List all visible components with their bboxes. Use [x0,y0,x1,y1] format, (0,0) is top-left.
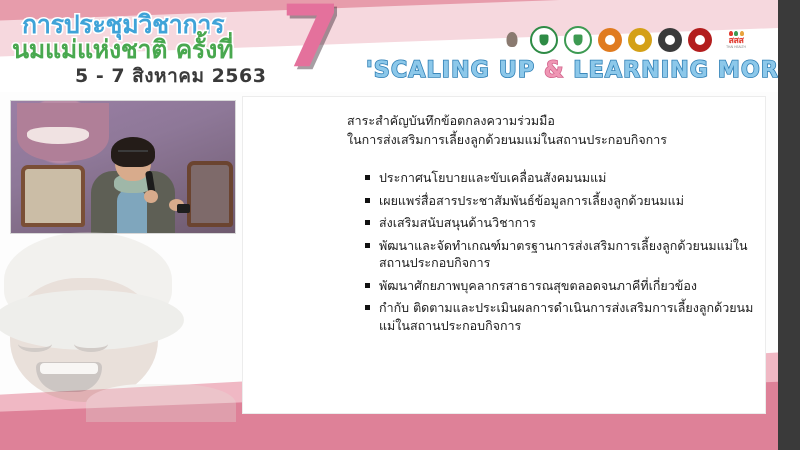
royal-emblem-logo [500,28,524,52]
speaker-figure [87,125,179,233]
slogan-part1: 'SCALING UP [366,58,544,83]
thai-breastfeeding-foundation-logo [598,28,622,52]
chair-left [21,165,85,227]
glasses-icon [118,150,148,159]
mou-bullet-list: ประกาศนโยบายและขับเคลื่อนสังคมนมแม่ เผยแ… [365,169,760,339]
slogan-part2: LEARNING MORE' [565,58,778,83]
chair-right [187,161,233,227]
slide-content-card: สาระสำคัญบันทึกข้อตกลงความร่วมมือ ในการส… [242,96,766,414]
ministry-public-health-logo [530,26,558,54]
speaker-hand-left [144,190,158,203]
content-heading-line1: สาระสำคัญบันทึกข้อตกลงความร่วมมือ [347,111,747,130]
child-eye-left [18,336,52,352]
edition-number: 7 [281,0,341,80]
medical-council-logo [658,28,682,52]
child-teeth [40,363,98,374]
content-heading: สาระสำคัญบันทึกข้อตกลงความร่วมมือ ในการส… [347,111,747,149]
list-item: พัฒนาและจัดทำเกณฑ์มาตรฐานการส่งเสริมการเ… [365,237,760,272]
pediatric-society-logo [688,28,712,52]
list-item: กำกับ ติดตามและประเมินผลการดำเนินการส่งเ… [365,299,760,334]
speaker-shirt [117,189,147,233]
child-eye-right [74,336,108,352]
speaker-video-thumbnail[interactable] [10,100,236,234]
page-right-edge [778,0,800,450]
health-department-logo [564,26,592,54]
content-heading-line2: ในการส่งเสริมการเลี้ยงลูกด้วยนมแม่ในสถาน… [347,130,747,149]
slogan-ampersand: & [544,58,564,83]
royal-crest-logo [628,28,652,52]
smiling-child-watermark [0,232,250,422]
header-banner: การประชุมวิชาการ นมแม่แห่งชาติ ครั้งที่ … [0,0,778,92]
list-item: ส่งเสริมสนับสนุนด้านวิชาการ [365,214,760,232]
thaihealth-subtext: THAI HEALTH [726,46,746,49]
sponsor-logo-row: สสส THAI HEALTH [500,26,754,54]
presenter-remote [177,204,190,213]
list-item: พัฒนาศักยภาพบุคลากรสาธารณสุขตลอดจนภาคีที… [365,277,760,295]
child-shoulder [86,384,236,422]
conference-date: 5 - 7 สิงหาคม 2563 [75,61,266,91]
thaihealth-logo: สสส THAI HEALTH [718,28,754,52]
list-item: ประกาศนโยบายและขับเคลื่อนสังคมนมแม่ [365,169,760,187]
conference-slogan: 'SCALING UP & LEARNING MORE' [366,58,778,83]
list-item: เผยแพร่สื่อสารประชาสัมพันธ์ข้อมูลการเลี้… [365,192,760,210]
presentation-slide: การประชุมวิชาการ นมแม่แห่งชาติ ครั้งที่ … [0,0,800,450]
